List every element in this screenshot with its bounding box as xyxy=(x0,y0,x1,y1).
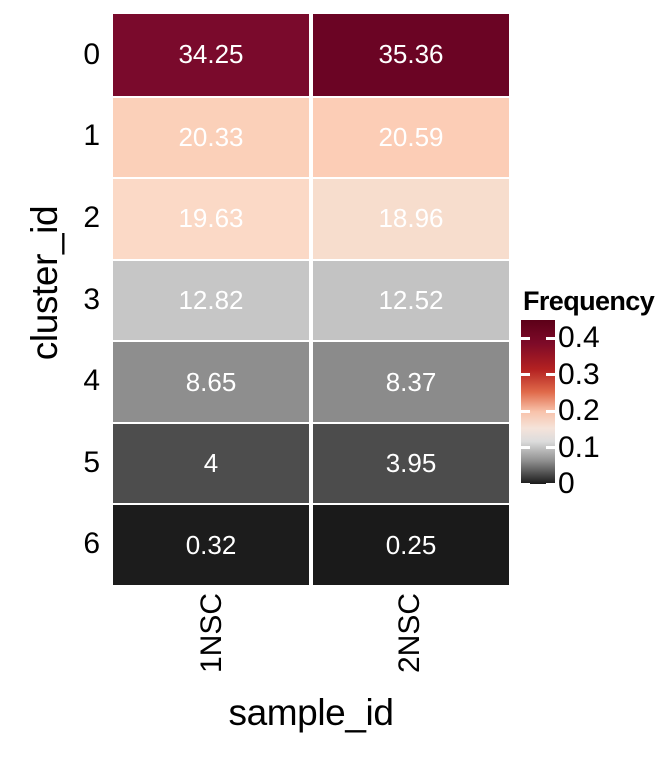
heatmap-row: 20.3320.59 xyxy=(113,96,509,178)
heatmap-row: 43.95 xyxy=(113,422,509,504)
x-axis-tick-label: 2NSC xyxy=(393,593,427,673)
x-axis-tick-labels: 1NSC2NSC xyxy=(113,585,509,685)
heatmap-cell[interactable]: 8.65 xyxy=(113,340,309,422)
x-axis-tick-label: 1NSC xyxy=(195,593,229,673)
legend-tick-labels: 0.40.30.20.10 xyxy=(558,320,668,484)
heatmap-cell[interactable]: 34.25 xyxy=(113,14,309,96)
x-axis-title: sample_id xyxy=(113,692,509,734)
heatmap-cell[interactable]: 18.96 xyxy=(309,177,509,259)
heatmap-panel: 34.2535.3620.3320.5919.6318.9612.8212.52… xyxy=(113,14,509,585)
y-axis-tick-label: 6 xyxy=(58,503,102,585)
heatmap-row: 19.6318.96 xyxy=(113,177,509,259)
y-axis-tick-label: 3 xyxy=(58,259,102,341)
legend: Frequency 0.40.30.20.10 xyxy=(518,286,672,496)
legend-colorbar xyxy=(521,320,555,484)
y-axis-tick-labels: 0123456 xyxy=(58,14,102,585)
heatmap-chart: cluster_id 0123456 34.2535.3620.3320.591… xyxy=(0,0,672,768)
heatmap-cell[interactable]: 20.33 xyxy=(113,96,309,178)
y-axis-tick-label: 1 xyxy=(58,96,102,178)
heatmap-cell[interactable]: 8.37 xyxy=(309,340,509,422)
heatmap-cell[interactable]: 0.25 xyxy=(309,503,509,585)
heatmap-cell[interactable]: 20.59 xyxy=(309,96,509,178)
legend-gradient xyxy=(521,320,555,484)
heatmap-cell[interactable]: 12.52 xyxy=(309,259,509,341)
heatmap-cell[interactable]: 3.95 xyxy=(309,422,509,504)
x-axis-tick-slot: 2NSC xyxy=(311,585,509,685)
heatmap-row: 0.320.25 xyxy=(113,503,509,585)
heatmap-cell[interactable]: 12.82 xyxy=(113,259,309,341)
legend-tick-label: 0.3 xyxy=(558,358,600,392)
legend-title: Frequency xyxy=(523,286,654,317)
heatmap-cell[interactable]: 19.63 xyxy=(113,177,309,259)
legend-tick-label: 0 xyxy=(558,467,575,501)
y-axis-tick-label: 0 xyxy=(58,14,102,96)
heatmap-cell[interactable]: 35.36 xyxy=(309,14,509,96)
y-axis-tick-label: 5 xyxy=(58,422,102,504)
legend-tick-label: 0.1 xyxy=(558,431,600,465)
legend-tick-label: 0.4 xyxy=(558,321,600,355)
y-axis-tick-label: 2 xyxy=(58,177,102,259)
heatmap-row: 8.658.37 xyxy=(113,340,509,422)
x-axis-tick-slot: 1NSC xyxy=(113,585,311,685)
heatmap-row: 34.2535.36 xyxy=(113,14,509,96)
legend-tick-label: 0.2 xyxy=(558,394,600,428)
heatmap-row: 12.8212.52 xyxy=(113,259,509,341)
y-axis-tick-label: 4 xyxy=(58,340,102,422)
heatmap-cell[interactable]: 4 xyxy=(113,422,309,504)
heatmap-cell[interactable]: 0.32 xyxy=(113,503,309,585)
